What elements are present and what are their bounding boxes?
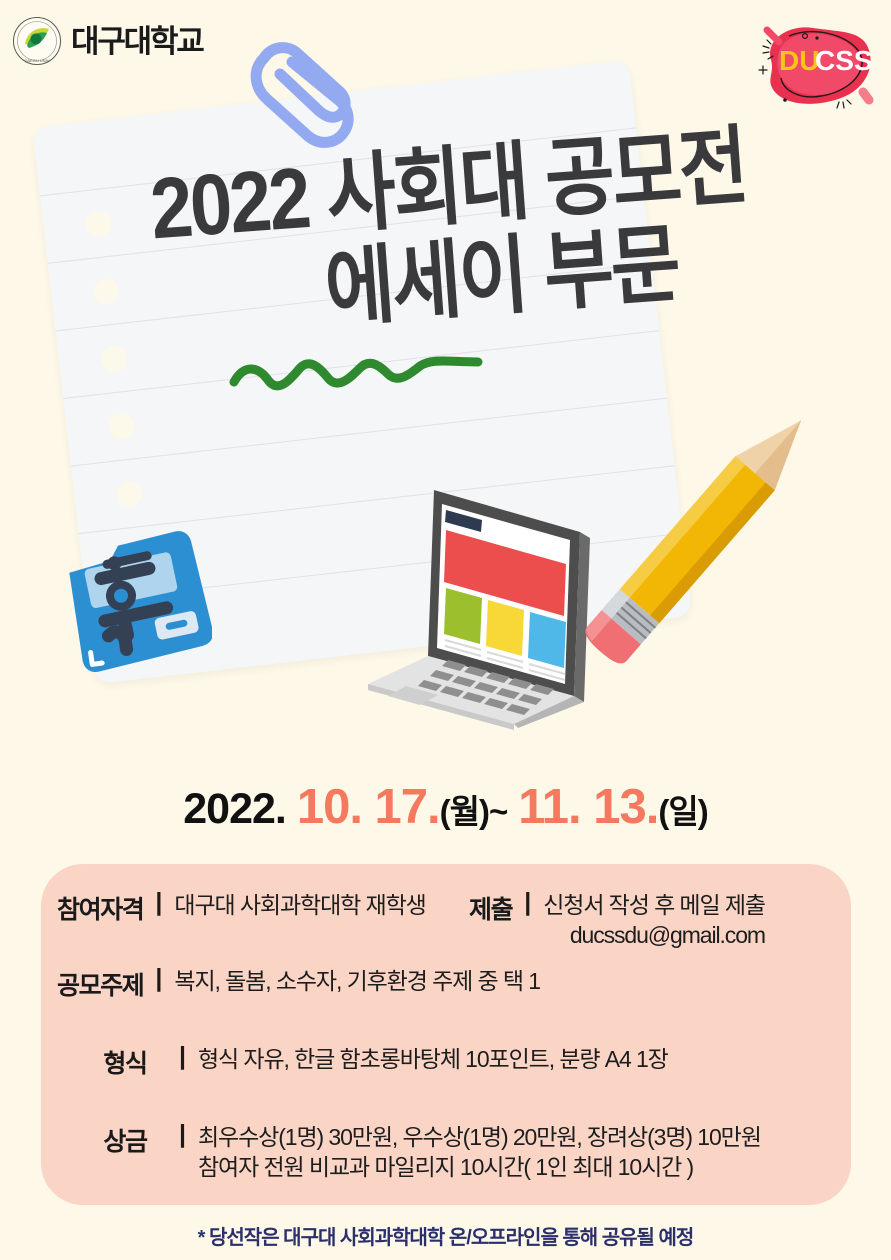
info-row-qualification: 참여자격 | 대구대 사회과학대학 재학생 xyxy=(57,890,426,926)
submission-email[interactable]: ducssdu@gmail.com xyxy=(570,920,765,950)
squiggle-icon xyxy=(228,352,484,394)
date-year: 2022. xyxy=(183,785,286,833)
date-end: 11. 13. xyxy=(518,780,658,834)
info-row-format: 형식 | 형식 자유, 한글 함초롱바탕체 10포인트, 분량 A4 1장 xyxy=(83,1044,668,1080)
pencil-illustration xyxy=(548,378,848,700)
divider-prize: | xyxy=(179,1122,186,1147)
footer-note: * 당선작은 대구대 사회과학대학 온/오프라인을 통해 공유될 예정 xyxy=(0,1221,891,1250)
divider-format: | xyxy=(179,1044,186,1069)
info-value-topic: 복지, 돌봄, 소수자, 기후환경 주제 중 택 1 xyxy=(174,966,540,996)
divider-topic: | xyxy=(155,966,162,991)
info-label-submission: 제출 xyxy=(469,890,512,926)
info-value-format: 형식 자유, 한글 함초롱바탕체 10포인트, 분량 A4 1장 xyxy=(198,1044,668,1074)
date-start: 10. 17. xyxy=(297,780,440,834)
green-squiggle-underline xyxy=(228,352,484,394)
info-value-qualification: 대구대 사회과학대학 재학생 xyxy=(174,890,425,920)
info-value-submission: 신청서 작성 후 메일 제출 xyxy=(543,890,765,920)
folder-card-illustration xyxy=(56,528,212,676)
details-panel: 참여자격 | 대구대 사회과학대학 재학생 제출 | 신청서 작성 후 메일 제… xyxy=(41,864,851,1205)
paperclip-icon xyxy=(234,18,360,150)
svg-text:DAEGU UNIV: DAEGU UNIV xyxy=(25,58,50,63)
date-start-dow: (월)~ xyxy=(440,793,508,830)
info-value-prize-mileage: 참여자 전원 비교과 마일리지 10시간( 1인 최대 10시간 ) xyxy=(198,1152,693,1182)
ducss-css-text: CSS xyxy=(815,45,873,76)
ducss-logo-icon: DU CSS xyxy=(743,8,883,128)
divider-qualification: | xyxy=(155,890,162,915)
date-end-dow: (일) xyxy=(658,793,707,830)
daegu-university-seal-icon: DAEGU UNIV xyxy=(12,16,62,66)
divider-submission: | xyxy=(524,890,531,915)
info-row-submission: 제출 | 신청서 작성 후 메일 제출 ducssdu@gmail.com xyxy=(469,890,765,951)
pencil-icon xyxy=(548,378,848,700)
info-row-prize: 상금 | 최우수상(1명) 30만원, 우수상(1명) 20만원, 장려상(3명… xyxy=(83,1122,761,1183)
ducss-du-text: DU xyxy=(779,45,819,76)
poster-canvas: DAEGU UNIV 대구대학교 DU CSS xyxy=(0,0,891,1260)
university-name: 대구대학교 xyxy=(71,26,203,57)
info-label-topic: 공모주제 xyxy=(57,966,143,1002)
paperclip-decoration xyxy=(234,18,360,150)
info-label-format: 형식 xyxy=(83,1044,167,1080)
folder-icon xyxy=(56,528,212,676)
info-label-qualification: 참여자격 xyxy=(57,890,143,926)
info-row-topic: 공모주제 | 복지, 돌봄, 소수자, 기후환경 주제 중 택 1 xyxy=(57,966,540,1002)
event-date-line: 2022. 10. 17.(월)~ 11. 13.(일) xyxy=(0,779,891,835)
info-label-prize: 상금 xyxy=(83,1122,167,1158)
info-value-prize: 최우수상(1명) 30만원, 우수상(1명) 20만원, 장려상(3명) 10만… xyxy=(198,1122,761,1152)
university-logo: DAEGU UNIV 대구대학교 xyxy=(12,16,203,66)
ducss-club-logo: DU CSS xyxy=(743,8,883,128)
